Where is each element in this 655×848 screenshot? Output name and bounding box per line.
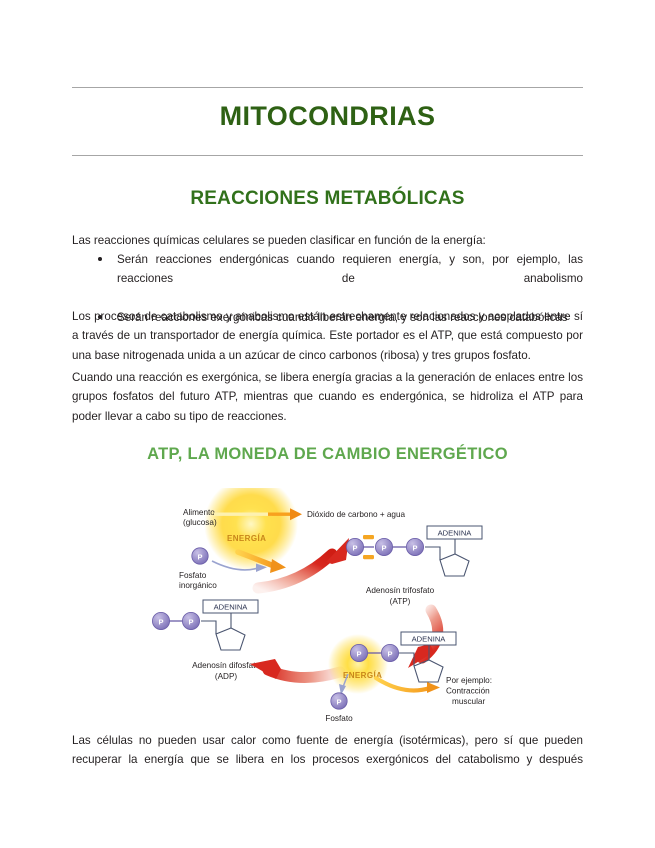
paragraph-text: Los procesos de catabolismo y anabolismo…: [72, 307, 583, 365]
phosphate-symbol: P: [352, 543, 357, 552]
intro-text: Las reacciones químicas celulares se pue…: [72, 231, 583, 250]
list-item: Serán reacciones endergónicas cuando req…: [72, 250, 583, 308]
header-rule-top: [72, 87, 583, 88]
energy-burst-bottom-icon: [328, 634, 388, 694]
food-label: Alimento: [183, 508, 215, 517]
energy-use-arrow-icon: [376, 678, 440, 693]
subsection-heading: ATP, LA MONEDA DE CAMBIO ENERGÉTICO: [72, 443, 583, 465]
phosphate-symbol: P: [188, 617, 193, 626]
example-label-line2: Contracción: [446, 687, 490, 696]
atp-name-label: Adenosín trifosfato: [366, 586, 435, 595]
phosphate-symbol: P: [381, 543, 386, 552]
paragraph-text: Cuando una reacción es exergónica, se li…: [72, 368, 583, 426]
energy-label-top: ENERGÍA: [227, 534, 266, 543]
adp-molecule: P P ADENINA Adenosín difosfato (ADP): [152, 600, 260, 681]
section-heading: REACCIONES METABÓLICAS: [72, 187, 583, 211]
phosphate-symbol: P: [197, 552, 202, 561]
atp-cycle-diagram: Alimento (glucosa) Dióxido de carbono + …: [150, 488, 580, 723]
adp-abbr-label: (ADP): [215, 672, 238, 681]
phosphate-sublabel-top: inorgánico: [179, 581, 217, 590]
document-page: MITOCONDRIAS REACCIONES METABÓLICAS Las …: [0, 0, 655, 848]
adenine-label: ADENINA: [438, 529, 473, 538]
closing-paragraph: Las células no pueden usar calor como fu…: [72, 731, 583, 789]
high-energy-bond-icon: [363, 535, 374, 539]
example-label-line1: Por ejemplo:: [446, 676, 492, 685]
list-item-label: Serán reacciones endergónicas cuando req…: [117, 253, 583, 305]
co2-water-label: Dióxido de carbono + agua: [307, 510, 406, 519]
adenine-label: ADENINA: [214, 603, 249, 612]
paragraph-catabolism-anabolism: Los procesos de catabolismo y anabolismo…: [72, 307, 583, 365]
ribose-pentagon-icon: [440, 554, 469, 576]
example-label-line3: muscular: [452, 697, 485, 706]
intro-paragraph: Las reacciones químicas celulares se pue…: [72, 231, 583, 250]
atp-molecule: P P P ADENINA Adenosín trifosfato (ATP): [346, 526, 482, 606]
food-sublabel: (glucosa): [183, 518, 217, 527]
phosphate-symbol: P: [336, 697, 341, 706]
paragraph-exergonic-endergonic: Cuando una reacción es exergónica, se li…: [72, 368, 583, 426]
phosphate-label-bottom: Fosfato: [325, 714, 353, 723]
phosphate-label-top: Fosfato: [179, 571, 207, 580]
high-energy-bond-icon: [363, 555, 374, 559]
back-to-adp-arrow-icon: [250, 659, 340, 679]
atp-abbr-label: (ATP): [390, 597, 411, 606]
adenine-label: ADENINA: [412, 635, 447, 644]
page-title: MITOCONDRIAS: [72, 99, 583, 133]
phosphate-symbol: P: [412, 543, 417, 552]
phosphate-symbol: P: [158, 617, 163, 626]
closing-text: Las células no pueden usar calor como fu…: [72, 731, 583, 789]
ribose-pentagon-icon: [414, 660, 443, 682]
ribose-pentagon-icon: [216, 628, 245, 650]
phosphate-symbol: P: [356, 649, 361, 658]
bullet-dot-icon: [98, 257, 102, 261]
adp-name-label: Adenosín difosfato: [192, 661, 260, 670]
header-rule-bottom: [72, 155, 583, 156]
phosphate-symbol: P: [387, 649, 392, 658]
